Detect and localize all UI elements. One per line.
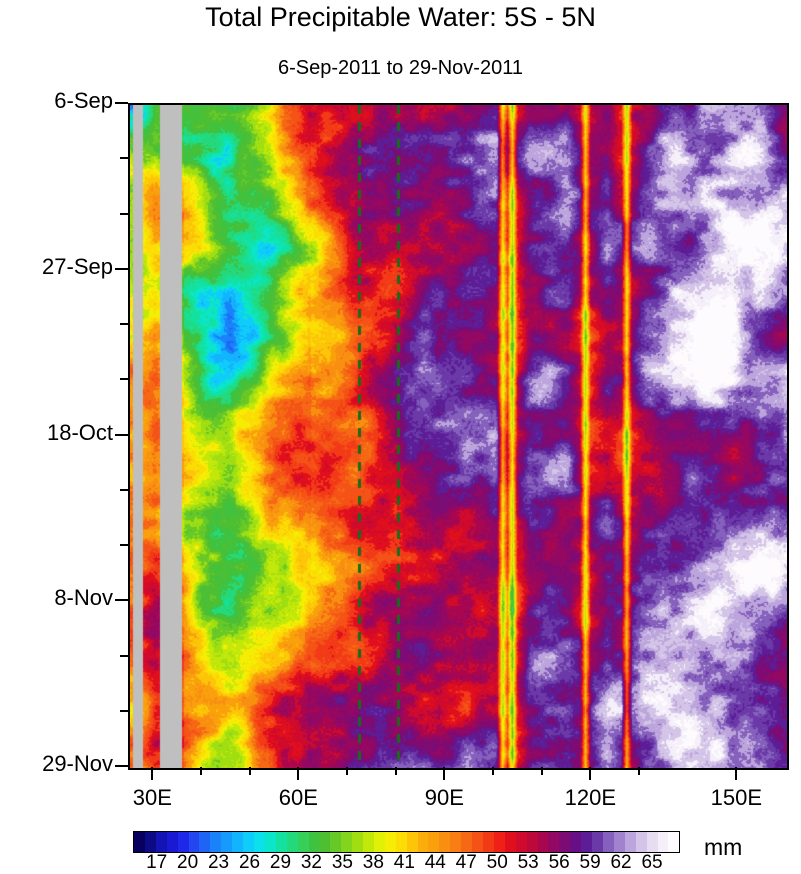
y-axis-tick-label: 18-Oct: [0, 420, 113, 446]
colorbar-swatch: [559, 832, 570, 852]
x-axis-tick-label: 150E: [676, 785, 796, 811]
x-axis-major-tick: [297, 767, 299, 780]
colorbar: [133, 831, 680, 853]
x-axis-minor-tick: [638, 767, 640, 775]
colorbar-swatch: [156, 832, 167, 852]
colorbar-swatch: [352, 832, 363, 852]
colorbar-swatch: [603, 832, 614, 852]
y-axis-minor-tick: [120, 710, 128, 712]
colorbar-swatch: [341, 832, 352, 852]
x-axis-tick-label: 120E: [530, 785, 650, 811]
colorbar-swatch: [407, 832, 418, 852]
x-axis-minor-tick: [541, 767, 543, 775]
colorbar-swatch: [658, 832, 669, 852]
colorbar-swatch: [396, 832, 407, 852]
colorbar-swatch: [221, 832, 232, 852]
colorbar-swatch: [210, 832, 221, 852]
colorbar-swatch: [581, 832, 592, 852]
colorbar-swatch: [276, 832, 287, 852]
colorbar-swatch: [243, 832, 254, 852]
colorbar-swatch: [494, 832, 505, 852]
colorbar-swatch: [505, 832, 516, 852]
y-axis-minor-tick: [120, 213, 128, 215]
x-axis-tick-label: 30E: [92, 785, 212, 811]
x-axis-major-tick: [589, 767, 591, 780]
colorbar-swatch: [625, 832, 636, 852]
colorbar-swatch: [189, 832, 200, 852]
y-axis-minor-tick: [120, 489, 128, 491]
colorbar-swatch: [614, 832, 625, 852]
x-axis-major-tick: [151, 767, 153, 780]
colorbar-swatch: [428, 832, 439, 852]
y-axis-major-tick: [115, 765, 128, 767]
y-axis-minor-tick: [120, 655, 128, 657]
colorbar-swatch: [363, 832, 374, 852]
colorbar-tick-labels: 1720232629323538414447505356596265: [133, 852, 680, 874]
colorbar-swatch: [232, 832, 243, 852]
colorbar-unit-label: mm: [704, 834, 742, 861]
y-axis-major-tick: [115, 434, 128, 436]
colorbar-swatch: [385, 832, 396, 852]
colorbar-swatch: [439, 832, 450, 852]
x-axis-minor-tick: [395, 767, 397, 775]
x-axis-major-tick: [735, 767, 737, 780]
y-axis-minor-tick: [120, 323, 128, 325]
y-axis-tick-label: 29-Nov: [0, 751, 113, 777]
colorbar-swatch: [199, 832, 210, 852]
colorbar-swatch: [450, 832, 461, 852]
colorbar-swatch: [178, 832, 189, 852]
colorbar-swatch: [298, 832, 309, 852]
colorbar-swatch: [254, 832, 265, 852]
colorbar-swatch: [636, 832, 647, 852]
y-axis-minor-tick: [120, 378, 128, 380]
x-axis-minor-tick: [492, 767, 494, 775]
y-axis-major-tick: [115, 268, 128, 270]
page-title: Total Precipitable Water: 5S - 5N: [0, 2, 801, 33]
y-axis-tick-label: 8-Nov: [0, 585, 113, 611]
colorbar-swatch: [330, 832, 341, 852]
colorbar-swatch: [167, 832, 178, 852]
colorbar-swatch: [668, 832, 679, 852]
colorbar-swatch: [287, 832, 298, 852]
colorbar-swatch: [538, 832, 549, 852]
x-axis-major-tick: [443, 767, 445, 780]
y-axis-major-tick: [115, 599, 128, 601]
y-axis-major-tick: [115, 102, 128, 104]
x-axis-minor-tick: [346, 767, 348, 775]
y-axis-minor-tick: [120, 157, 128, 159]
colorbar-swatch: [472, 832, 483, 852]
colorbar-swatch: [374, 832, 385, 852]
colorbar-swatch: [548, 832, 559, 852]
precipitable-water-heatmap: [130, 105, 787, 768]
y-axis-tick-label: 27-Sep: [0, 254, 113, 280]
colorbar-swatch: [265, 832, 276, 852]
colorbar-swatch: [418, 832, 429, 852]
colorbar-swatch: [527, 832, 538, 852]
hovmoller-plot-area: [128, 103, 789, 770]
colorbar-swatch: [134, 832, 145, 852]
colorbar-swatch: [461, 832, 472, 852]
x-axis-minor-tick: [200, 767, 202, 775]
chart-subtitle: 6-Sep-2011 to 29-Nov-2011: [0, 57, 801, 80]
colorbar-swatch: [570, 832, 581, 852]
x-axis-minor-tick: [249, 767, 251, 775]
colorbar-swatch: [516, 832, 527, 852]
colorbar-swatch: [483, 832, 494, 852]
colorbar-swatch: [592, 832, 603, 852]
x-axis-tick-label: 60E: [238, 785, 358, 811]
y-axis-tick-label: 6-Sep: [0, 88, 113, 114]
colorbar-tick-label: 65: [632, 852, 672, 874]
colorbar-swatch: [145, 832, 156, 852]
colorbar-swatch: [309, 832, 320, 852]
x-axis-tick-label: 90E: [384, 785, 504, 811]
colorbar-swatch: [647, 832, 658, 852]
colorbar-swatch: [319, 832, 330, 852]
y-axis-minor-tick: [120, 544, 128, 546]
